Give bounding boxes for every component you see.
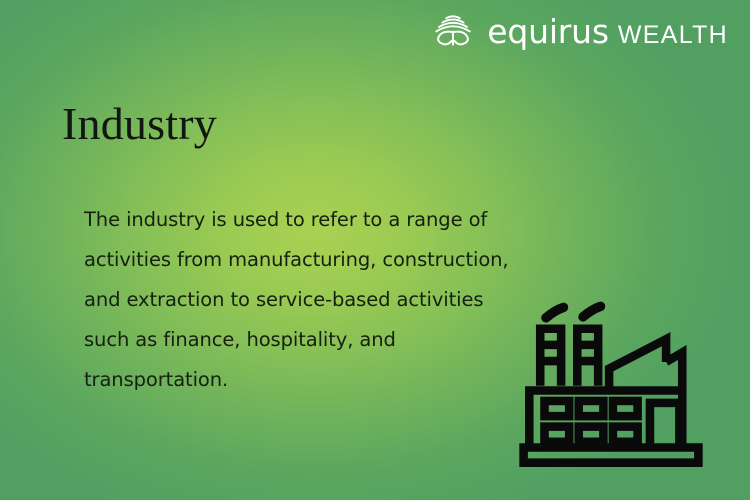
sawtooth-roof — [609, 339, 682, 390]
brand-wordmark: equirus WEALTH — [487, 15, 728, 48]
slide-canvas: equirus WEALTH Industry The industry is … — [0, 0, 750, 500]
brand-logo: equirus WEALTH — [430, 11, 728, 51]
equirus-tree-logo-icon — [430, 11, 476, 51]
foundation-base — [524, 448, 699, 463]
brand-subname: WEALTH — [618, 23, 728, 48]
smoke-puff-left — [546, 307, 564, 317]
smoke-puff-right — [583, 306, 601, 316]
factory-icon — [516, 286, 706, 476]
door — [650, 403, 679, 448]
page-title: Industry — [62, 98, 217, 150]
window-grid — [545, 401, 638, 442]
brand-name: equirus — [487, 15, 609, 48]
body-paragraph: The industry is used to refer to a range… — [84, 200, 514, 400]
smokestack-left — [540, 329, 561, 386]
smokestack-right — [577, 329, 598, 386]
